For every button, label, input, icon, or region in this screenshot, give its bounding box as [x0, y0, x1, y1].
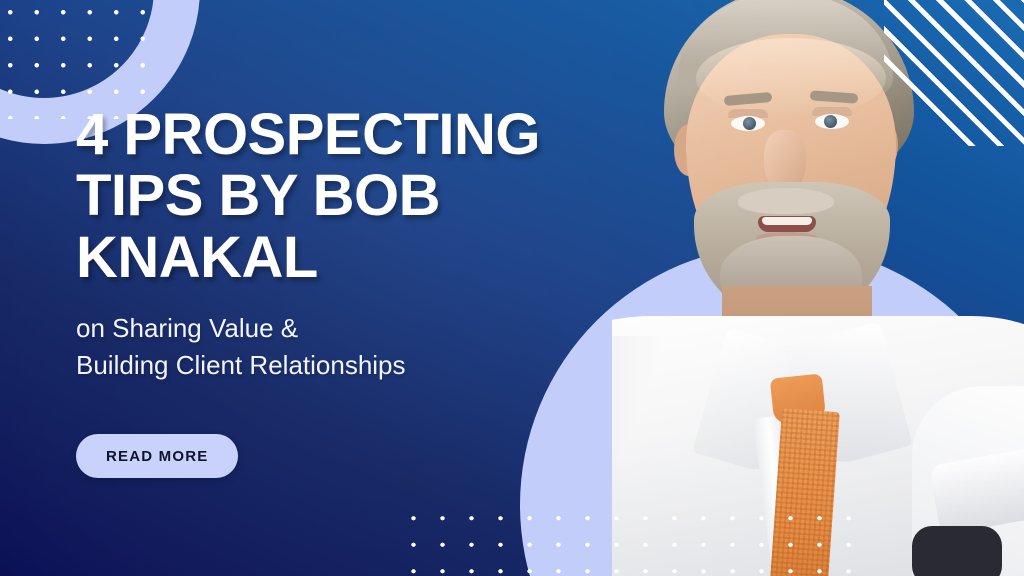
dot-grid-bottom — [399, 505, 869, 576]
banner-content: 4 Prospecting Tips by Bob Knakal on Shar… — [76, 104, 636, 478]
portrait-eye-left — [731, 116, 765, 131]
promo-banner: 4 Prospecting Tips by Bob Knakal on Shar… — [0, 0, 1024, 576]
portrait-forehead — [696, 38, 886, 118]
diagonal-stripes-top-right — [884, 0, 1024, 146]
portrait-eye-right — [815, 114, 849, 129]
portrait-teeth — [762, 217, 812, 225]
portrait-moustache — [738, 188, 834, 214]
portrait-iris-left — [743, 117, 756, 130]
subtitle-line-2: Building Client Relationships — [76, 350, 406, 380]
portrait-iris-right — [824, 115, 837, 128]
subtitle-line-1: on Sharing Value & — [76, 313, 298, 343]
banner-subtitle: on Sharing Value & Building Client Relat… — [76, 310, 546, 384]
read-more-button[interactable]: READ MORE — [76, 434, 238, 478]
portrait-hand — [912, 526, 1002, 576]
page-title: 4 Prospecting Tips by Bob Knakal — [76, 104, 616, 288]
